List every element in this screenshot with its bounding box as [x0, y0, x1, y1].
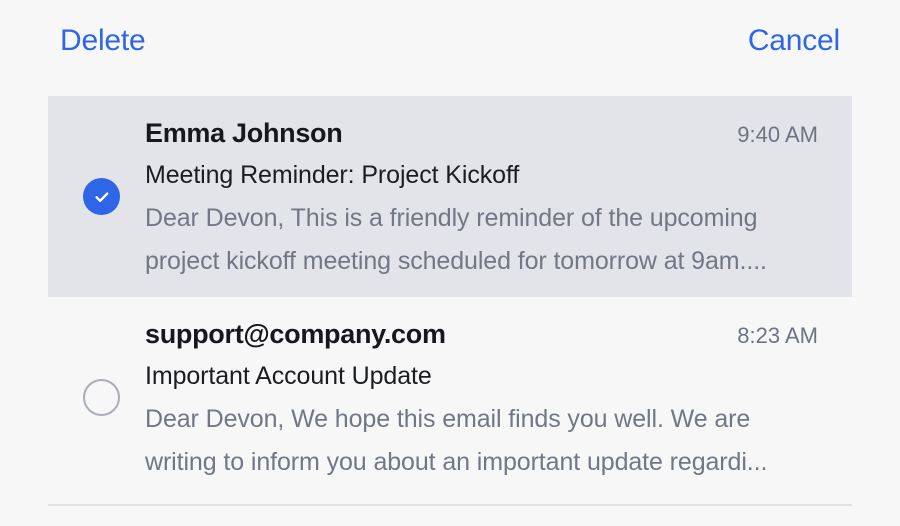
email-selection-screen: Delete Cancel Emma Johnson 9:40 AM Meeti… [0, 0, 900, 526]
circle-outline-icon[interactable] [83, 379, 120, 416]
email-timestamp: 8:23 AM [737, 323, 852, 349]
email-list: Emma Johnson 9:40 AM Meeting Reminder: P… [0, 96, 900, 498]
selection-toolbar: Delete Cancel [0, 0, 900, 82]
email-content: Emma Johnson 9:40 AM Meeting Reminder: P… [145, 96, 852, 283]
checkbox-column [48, 96, 145, 297]
email-sender: Emma Johnson [145, 118, 342, 150]
check-circle-filled-icon[interactable] [83, 178, 120, 215]
email-header-line: support@company.com 8:23 AM [145, 319, 852, 351]
email-list-item[interactable]: Emma Johnson 9:40 AM Meeting Reminder: P… [48, 96, 852, 297]
email-content: support@company.com 8:23 AM Important Ac… [145, 297, 852, 484]
email-header-line: Emma Johnson 9:40 AM [145, 118, 852, 150]
email-list-item[interactable]: support@company.com 8:23 AM Important Ac… [48, 297, 852, 498]
cancel-button[interactable]: Cancel [746, 24, 842, 58]
email-timestamp: 9:40 AM [737, 122, 852, 148]
delete-button[interactable]: Delete [58, 24, 148, 58]
email-preview: Dear Devon, We hope this email finds you… [145, 398, 852, 484]
list-divider [48, 504, 852, 506]
email-preview: Dear Devon, This is a friendly reminder … [145, 197, 852, 283]
email-subject: Meeting Reminder: Project Kickoff [145, 160, 852, 190]
email-sender: support@company.com [145, 319, 446, 351]
email-subject: Important Account Update [145, 361, 852, 391]
checkbox-column [48, 297, 145, 498]
